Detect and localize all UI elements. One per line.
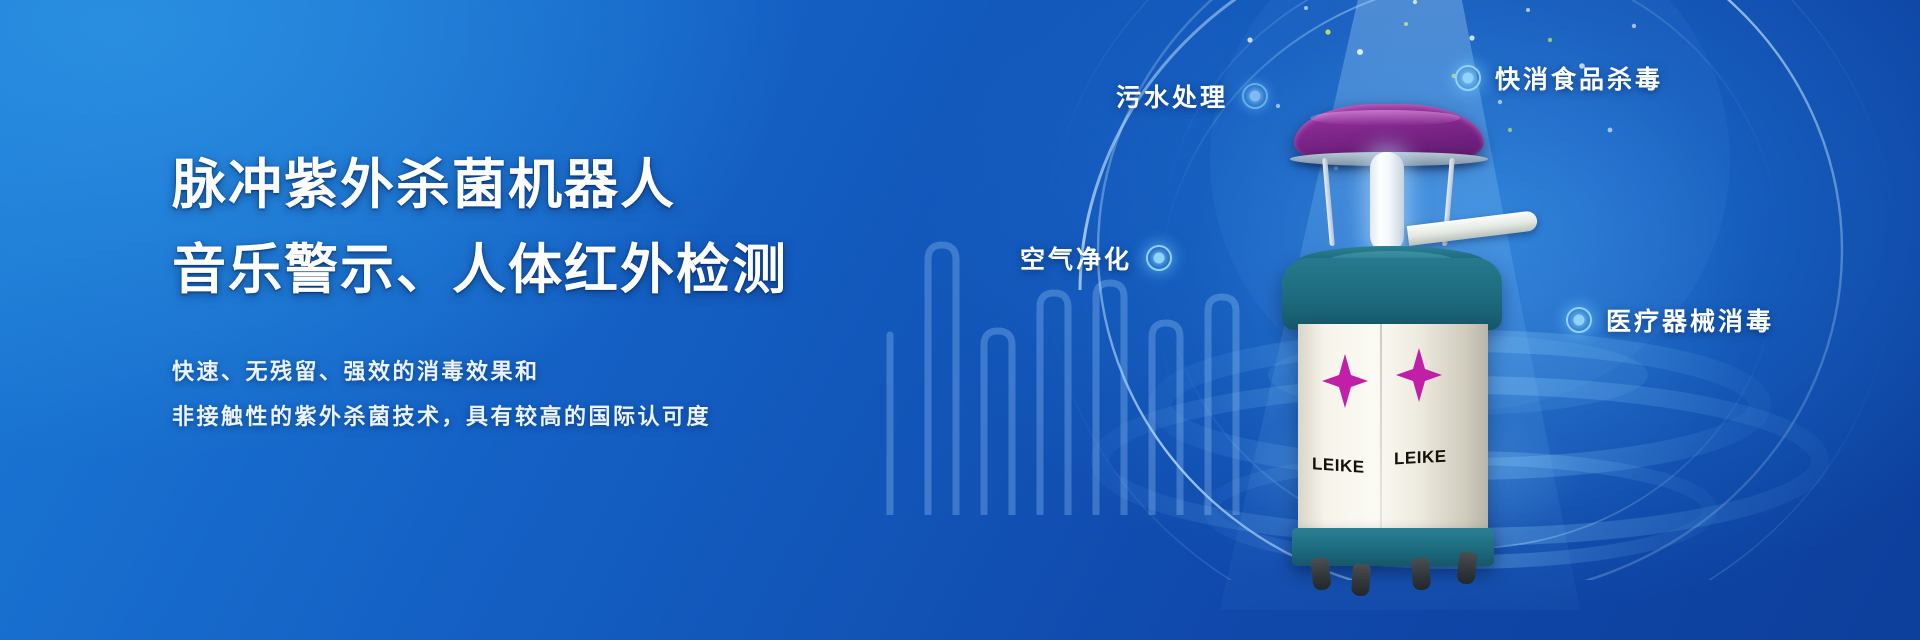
caster-wheel-icon (1456, 551, 1477, 585)
headline-block: 脉冲紫外杀菌机器人 音乐警示、人体红外检测 快速、无残留、强效的消毒效果和 非接… (172, 150, 932, 440)
description-block: 快速、无残留、强效的消毒效果和 非接触性的紫外杀菌技术，具有较高的国际认可度 (172, 349, 932, 441)
callout-label: 空气净化 (1020, 240, 1132, 276)
node-dot-icon (1455, 65, 1481, 91)
callout-sewage-treatment[interactable]: 污水处理 (1116, 78, 1268, 114)
push-handle (1407, 210, 1538, 246)
chassis-shoulder (1282, 258, 1502, 330)
brand-logo-right: LEIKE (1394, 447, 1447, 470)
caster-wheel-icon (1310, 557, 1331, 591)
node-dot-icon (1242, 83, 1268, 109)
callout-label: 快消食品杀毒 (1495, 60, 1663, 96)
brand-logo-left: LEIKE (1312, 454, 1365, 478)
callout-food-disinfection[interactable]: 快消食品杀毒 (1455, 60, 1663, 96)
description-line-1: 快速、无残留、强效的消毒效果和 (172, 349, 932, 395)
callout-label: 污水处理 (1116, 78, 1228, 114)
description-line-2: 非接触性的紫外杀菌技术，具有较高的国际认可度 (172, 394, 932, 440)
uv-lamp-tube (1370, 152, 1404, 252)
callout-medical-device-sterilization[interactable]: 医疗器械消毒 (1566, 302, 1774, 338)
page-subtitle: 音乐警示、人体红外检测 (172, 235, 932, 306)
node-dot-icon (1146, 245, 1172, 271)
four-point-star-icon (1322, 354, 1368, 408)
promo-banner: 脉冲紫外杀菌机器人 音乐警示、人体红外检测 快速、无残留、强效的消毒效果和 非接… (0, 0, 1920, 640)
callout-label: 医疗器械消毒 (1606, 302, 1774, 338)
caster-wheel-icon (1411, 557, 1431, 590)
page-title: 脉冲紫外杀菌机器人 (172, 150, 932, 221)
caster-wheel-icon (1351, 563, 1371, 596)
node-dot-icon (1566, 307, 1592, 333)
callout-air-purification[interactable]: 空气净化 (1020, 240, 1172, 276)
four-point-star-icon (1396, 348, 1442, 402)
product-image-uv-robot: LEIKE LEIKE (1268, 96, 1548, 596)
lamp-strut (1322, 158, 1335, 246)
chassis-corner-edge (1380, 324, 1382, 540)
